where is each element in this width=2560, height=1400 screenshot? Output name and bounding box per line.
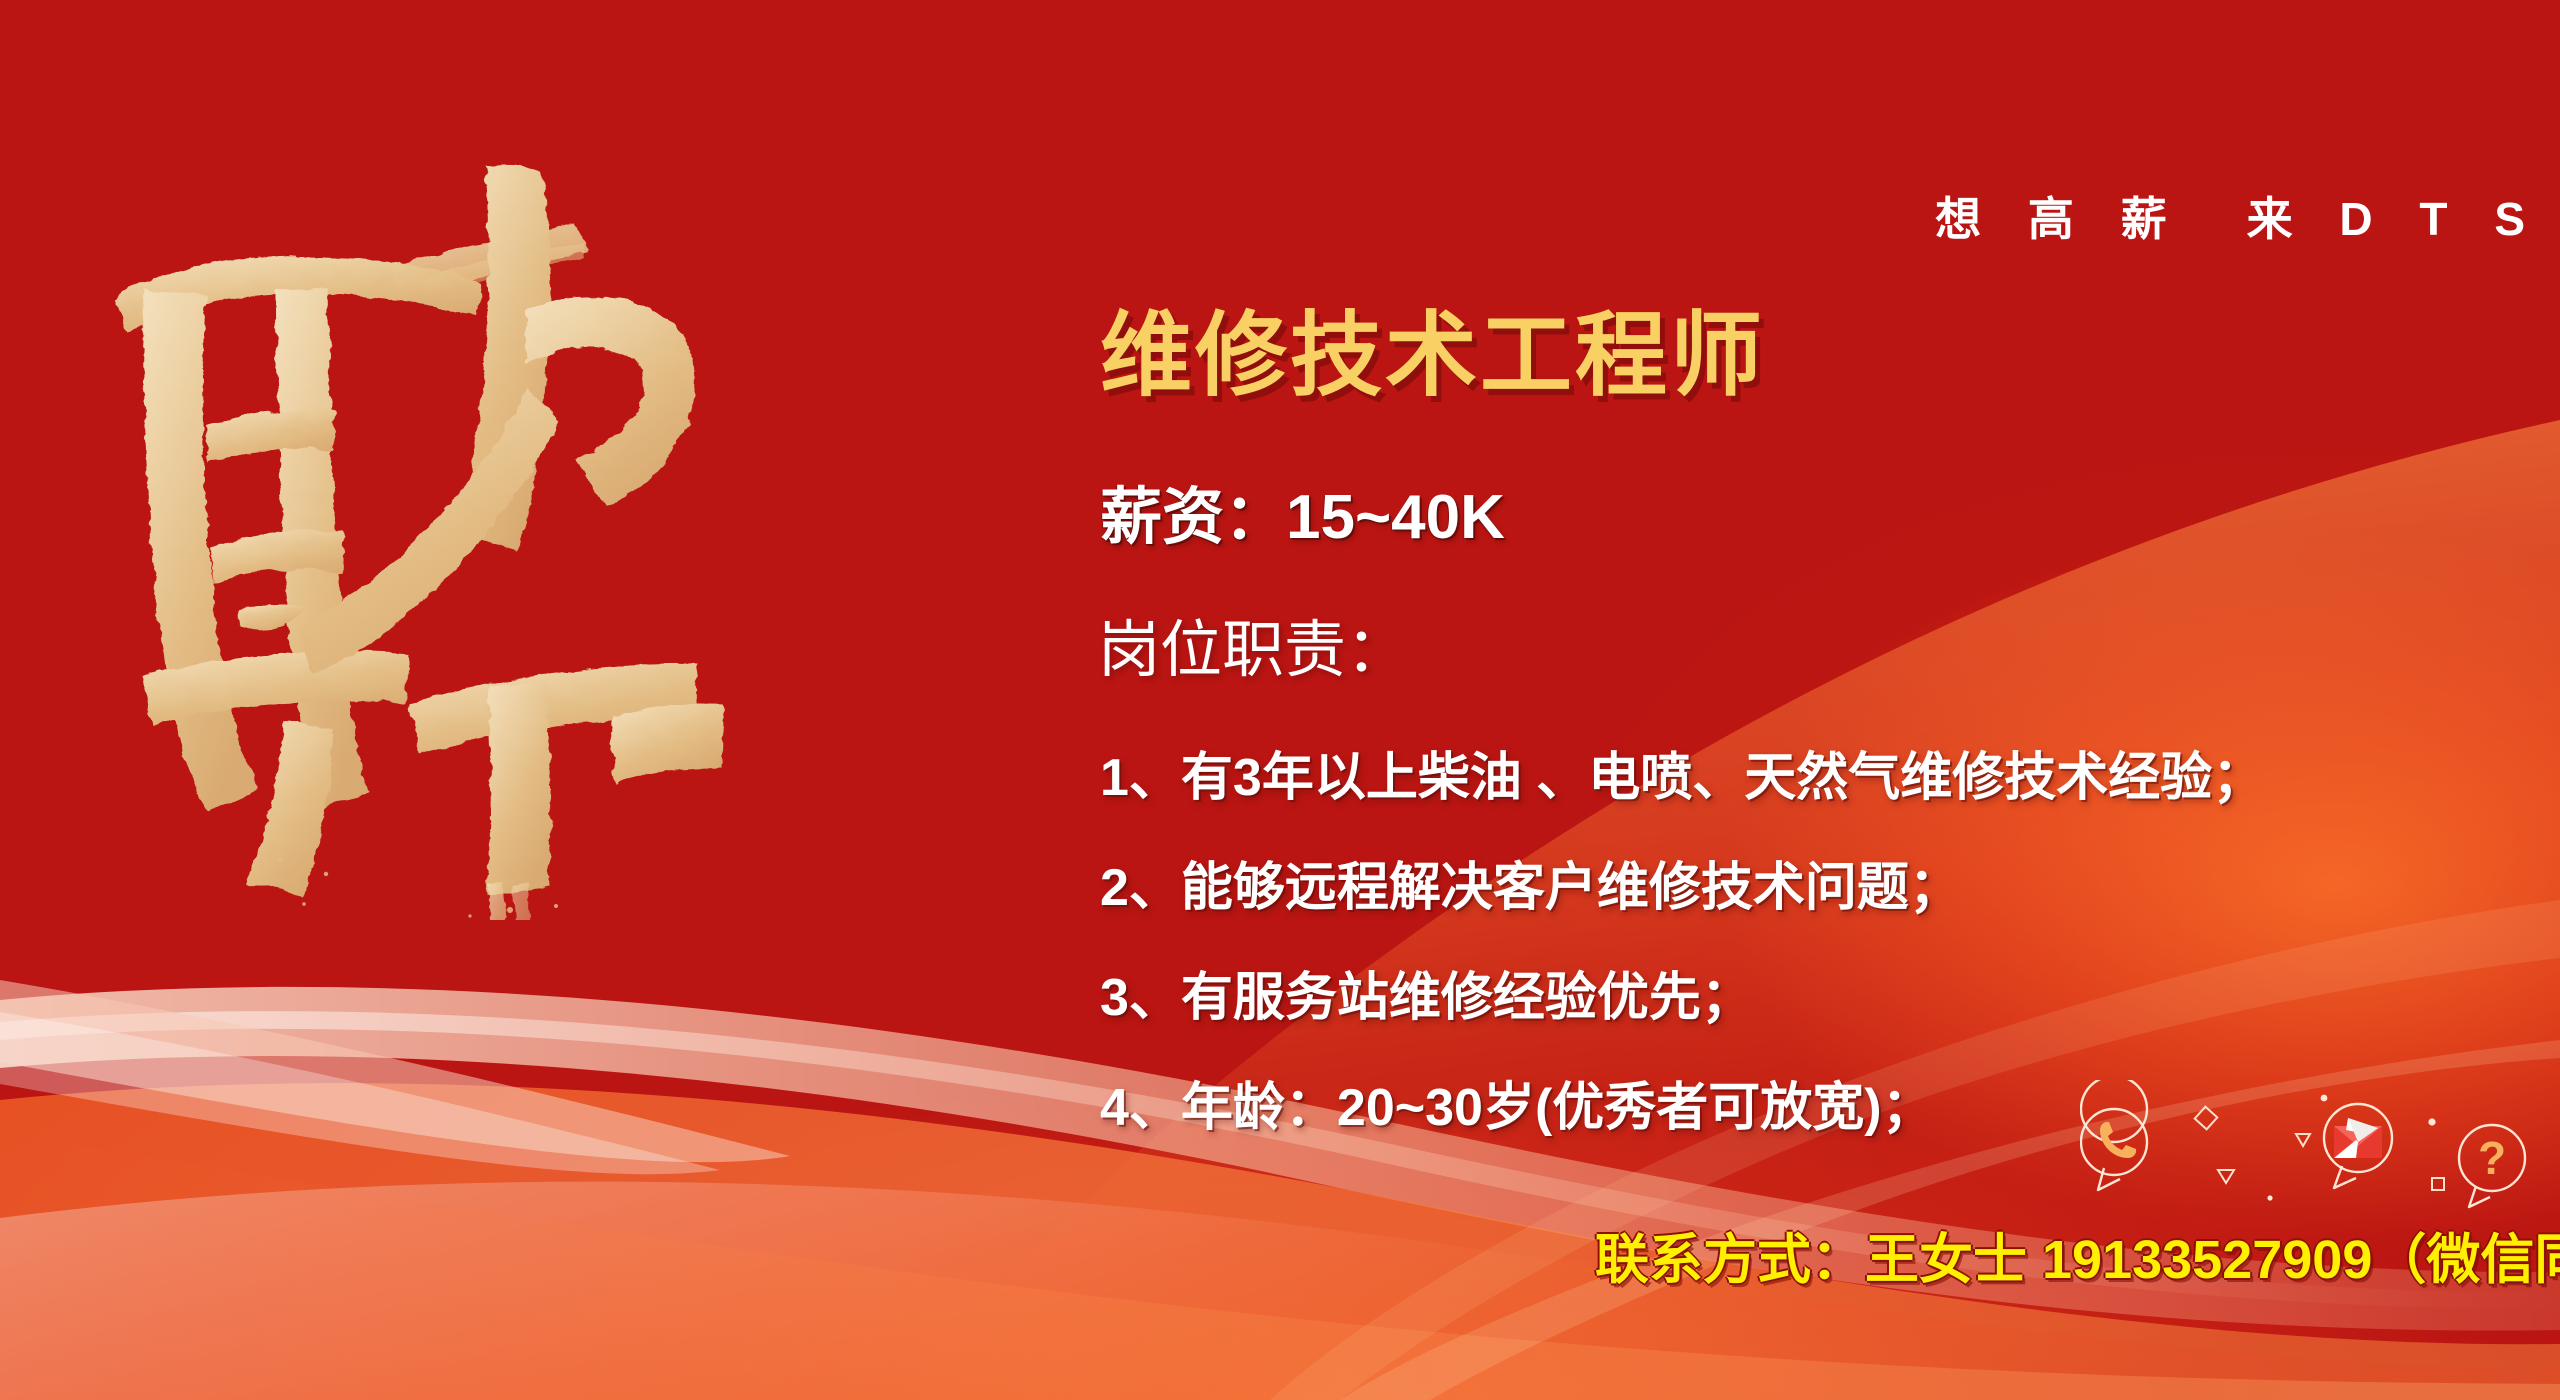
duty-item-3: 3、有服务站维修经验优先； bbox=[1100, 972, 2560, 1024]
contact-line: 联系方式：王女士 19133527909（微信同号） bbox=[1595, 1233, 2560, 1287]
duties-list: 1、有3年以上柴油 、电喷、天然气维修技术经验； 2、能够远程解决客户维修技术问… bbox=[1100, 752, 2560, 1192]
duty-item-4: 4、年龄：20~30岁(优秀者可放宽)； bbox=[1100, 1082, 2560, 1134]
tagline: 想 高 薪 来 D T S bbox=[1935, 196, 2542, 242]
duty-item-2: 2、能够远程解决客户维修技术问题； bbox=[1100, 862, 2560, 914]
job-title: 维修技术工程师 bbox=[1100, 310, 1765, 402]
duties-heading: 岗位职责： bbox=[1098, 620, 1408, 682]
salary-line: 薪资：15~40K bbox=[1100, 487, 1505, 549]
recruitment-poster: 想 高 薪 来 D T S 维修技术工程师 薪资：15~40K 岗位职责： 1、… bbox=[0, 0, 2560, 1400]
duty-item-1: 1、有3年以上柴油 、电喷、天然气维修技术经验； bbox=[1100, 752, 2560, 804]
